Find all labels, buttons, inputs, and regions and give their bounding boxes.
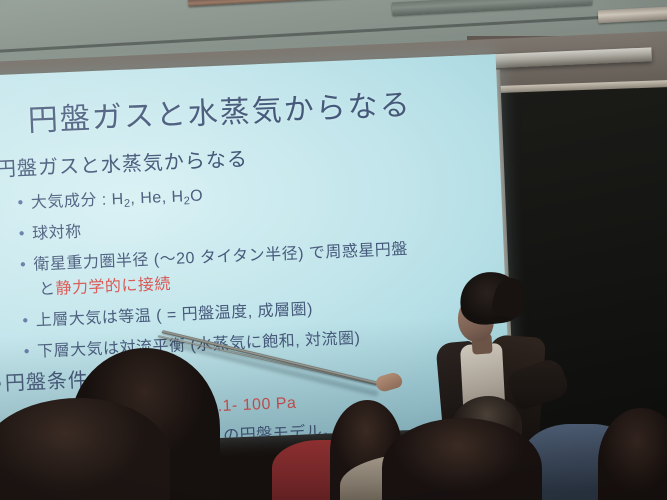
slide-bullet-upper-atmosphere: ●上層大気は等温 ( = 円盤温度, 成層圏) xyxy=(22,295,314,331)
bullet-marker-circle-icon: ○ xyxy=(0,375,3,392)
slide-bullet-text: 円盤ガスと水蒸気からなる xyxy=(0,149,248,182)
slide-bullet-atmosphere-composition: ●大気成分 : H2, He, H2O xyxy=(17,182,204,215)
bullet-marker-dot-icon: ● xyxy=(18,228,25,239)
slide-content: 円盤ガスと水蒸気からなる ○円盤ガスと水蒸気からなる ●大気成分 : H2, H… xyxy=(0,54,511,448)
slide-bullet-highlight: 0.1- 100 Pa xyxy=(208,395,297,416)
bullet-marker-dot-icon: ● xyxy=(22,315,29,326)
slide-bullet-spherical-symmetry: ●球対称 xyxy=(18,218,82,245)
slide-title: 円盤ガスと水蒸気からなる xyxy=(27,80,413,140)
bullet-marker-dot-icon: ● xyxy=(17,197,24,208)
slide-bullet-text: 円盤条件 xyxy=(5,369,90,394)
slide-bullet-hydrostatic-connection: と静力学的に接続 xyxy=(38,270,171,300)
slide-bullet-level1-disk-conditions: ○円盤条件 xyxy=(0,363,89,396)
bullet-marker-dot-icon: ● xyxy=(20,259,27,270)
slide-bullet-level1-disk-gas: ○円盤ガスと水蒸気からなる xyxy=(0,143,248,183)
slide-bullet-prefix: と xyxy=(39,281,56,299)
slide-bullet-text: 大気成分 : H2, He, H2O xyxy=(31,188,204,212)
slide-bullet-text: 上層大気は等温 ( = 円盤温度, 成層圏) xyxy=(36,301,314,330)
lecture-photo-scene: 円盤ガスと水蒸気からなる ○円盤ガスと水蒸気からなる ●大気成分 : H2, H… xyxy=(0,0,667,500)
slide-bullet-highlight: 静力学的に接続 xyxy=(55,276,171,298)
bullet-marker-dot-icon: ● xyxy=(23,346,30,357)
slide-bullet-text: 衛星重力圏半径 (〜20 タイタン半径) で周惑星円盤 xyxy=(33,241,408,274)
projector-screen: 円盤ガスと水蒸気からなる ○円盤ガスと水蒸気からなる ●大気成分 : H2, H… xyxy=(0,54,511,448)
slide-bullet-text: 球対称 xyxy=(32,224,82,243)
